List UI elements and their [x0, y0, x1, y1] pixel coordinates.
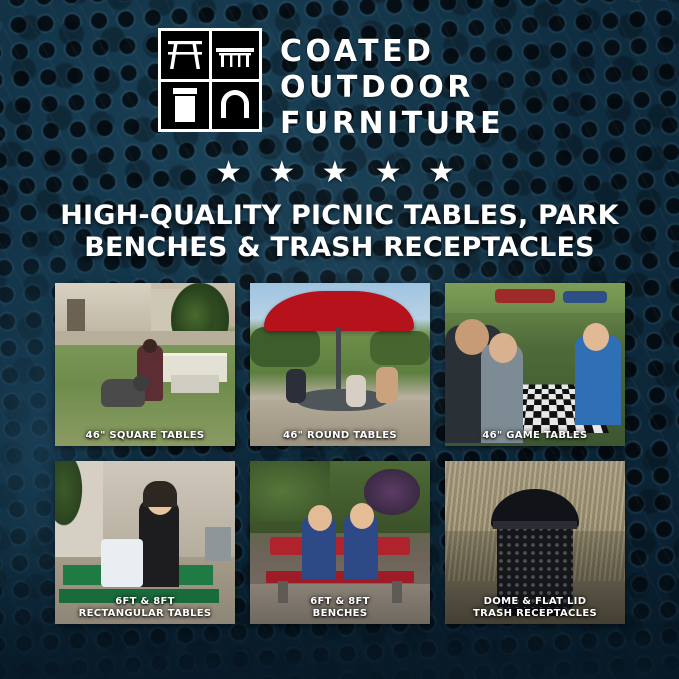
- product-caption: 46" GAME TABLES: [445, 426, 625, 447]
- product-caption: DOME & FLAT LID TRASH RECEPTACLES: [445, 592, 625, 624]
- logo-word-1: COATED: [280, 34, 504, 70]
- headline-line-1: HIGH-QUALITY PICNIC TABLES, PARK: [40, 200, 639, 232]
- star-rating: ★ ★ ★ ★ ★: [0, 158, 679, 188]
- product-tile-game-tables[interactable]: 46" GAME TABLES: [445, 283, 625, 446]
- park-bench-icon: [212, 31, 260, 79]
- product-caption: 6FT & 8FT BENCHES: [250, 592, 430, 624]
- product-tile-rectangular-tables[interactable]: 6FT & 8FT RECTANGULAR TABLES: [55, 461, 235, 624]
- product-caption-line-1: DOME & FLAT LID: [447, 596, 623, 608]
- product-caption-line-1: 6FT & 8FT: [252, 596, 428, 608]
- product-caption: 46" SQUARE TABLES: [55, 426, 235, 447]
- product-tile-round-tables[interactable]: 46" ROUND TABLES: [250, 283, 430, 446]
- product-caption: 6FT & 8FT RECTANGULAR TABLES: [55, 592, 235, 624]
- logo-word-3: FURNITURE: [280, 106, 504, 142]
- product-grid: 46" SQUARE TABLES 46" ROUND TABLES 46" G…: [55, 283, 625, 624]
- round-table-photo: [250, 283, 430, 446]
- product-poster: COATED OUTDOOR FURNITURE ★ ★ ★ ★ ★ HIGH-…: [0, 0, 679, 679]
- product-tile-benches[interactable]: 6FT & 8FT BENCHES: [250, 461, 430, 624]
- product-caption-line-1: 6FT & 8FT: [57, 596, 233, 608]
- arch-bench-icon: [212, 82, 260, 130]
- product-caption-line-2: RECTANGULAR TABLES: [57, 608, 233, 620]
- product-tile-trash-receptacles[interactable]: DOME & FLAT LID TRASH RECEPTACLES: [445, 461, 625, 624]
- brand-logo: COATED OUTDOOR FURNITURE: [158, 26, 528, 144]
- logo-icon-grid: [158, 28, 262, 132]
- picnic-table-icon: [161, 31, 209, 79]
- game-table-photo: [445, 283, 625, 446]
- product-caption: 46" ROUND TABLES: [250, 426, 430, 447]
- product-tile-square-tables[interactable]: 46" SQUARE TABLES: [55, 283, 235, 446]
- square-table-photo: [55, 283, 235, 446]
- headline-line-2: BENCHES & TRASH RECEPTACLES: [40, 232, 639, 264]
- trash-receptacle-icon: [161, 82, 209, 130]
- logo-word-2: OUTDOOR: [280, 70, 504, 106]
- product-caption-line-2: BENCHES: [252, 608, 428, 620]
- product-caption-line-2: TRASH RECEPTACLES: [447, 608, 623, 620]
- logo-wordmark: COATED OUTDOOR FURNITURE: [280, 26, 504, 142]
- headline: HIGH-QUALITY PICNIC TABLES, PARK BENCHES…: [40, 200, 639, 264]
